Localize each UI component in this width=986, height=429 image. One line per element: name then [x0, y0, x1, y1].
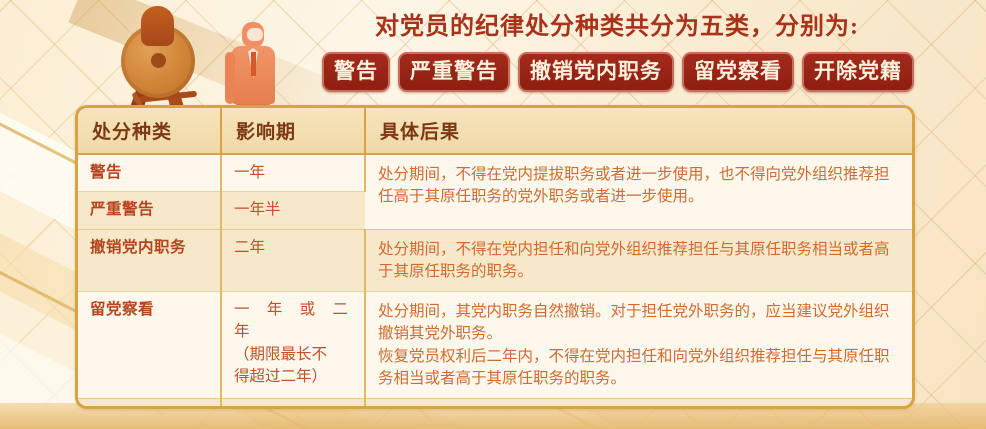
cell-kind-probation: 留党察看: [78, 291, 221, 398]
compass-hub: [151, 53, 166, 68]
figure-tie: [251, 52, 256, 76]
consequence-paragraph: 处分期间，其党内职务自然撤销。对于担任党外职务的，应当建议党外组织撤销其党外职务…: [378, 301, 900, 346]
table-row: 开除党籍 受到处分后五年 不得重新入党，也不得推荐担任与其原任职务相当或者高于其…: [78, 398, 912, 409]
table-row: 警告 一年 处分期间，不得在党内提拔职务或者进一步使用，也不得向党外组织推荐担任…: [78, 154, 912, 192]
period-line: （期限最长不: [234, 344, 352, 366]
cell-kind-warning: 警告: [78, 154, 221, 192]
column-header-kind: 处分种类: [78, 108, 221, 154]
cell-period-remove-post: 二年: [221, 229, 365, 291]
compass-knob: [141, 6, 174, 46]
punishment-badge-remove-post[interactable]: 撤销党内职务: [518, 52, 674, 92]
punishment-badge-expulsion[interactable]: 开除党籍: [802, 52, 914, 92]
page-title: 对党员的纪律处分种类共分为五类，分别为:: [375, 10, 975, 46]
table-header-row: 处分种类 影响期 具体后果: [78, 108, 912, 154]
punishment-badge-probation[interactable]: 留党察看: [682, 52, 794, 92]
cell-consequence-expulsion: 不得重新入党，也不得推荐担任与其原任职务相当或者高于其原任职务的党外职务。: [365, 398, 912, 409]
punishment-badge-warning[interactable]: 警告: [322, 52, 390, 92]
column-header-consequence: 具体后果: [365, 108, 912, 154]
table-row: 留党察看 一 年 或 二 年 （期限最长不 得超过二年） 处分期间，其党内职务自…: [78, 291, 912, 398]
cell-consequence-remove-post: 处分期间，不得在党内担任和向党外组织推荐担任与其原任职务相当或者高于其原任职务的…: [365, 229, 912, 291]
consequence-paragraph: 恢复党员权利后二年内，不得在党内担任和向党外组织推荐担任与其原任职务相当或者高于…: [378, 346, 900, 391]
punishment-badge-serious-warning[interactable]: 严重警告: [398, 52, 510, 92]
cell-period-serious-warning: 一年半: [221, 192, 365, 229]
cell-consequence-probation: 处分期间，其党内职务自然撤销。对于担任党外职务的，应当建议党外组织撤销其党外职务…: [365, 291, 912, 398]
cell-kind-expulsion: 开除党籍: [78, 398, 221, 409]
cell-period-probation: 一 年 或 二 年 （期限最长不 得超过二年）: [221, 291, 365, 398]
cell-consequence-warning: 处分期间，不得在党内提拔职务或者进一步使用，也不得向党外组织推荐担任高于其原任职…: [365, 154, 912, 229]
figure-arm: [225, 52, 235, 104]
cell-period-expulsion: 受到处分后五年: [221, 398, 365, 409]
discipline-table: 处分种类 影响期 具体后果 警告 一年 处分期间，不得在党内提拔职务或者进一步使…: [75, 105, 915, 409]
table-row: 撤销党内职务 二年 处分期间，不得在党内担任和向党外组织推荐担任与其原任职务相当…: [78, 229, 912, 291]
cell-kind-remove-post: 撤销党内职务: [78, 229, 221, 291]
cell-period-warning: 一年: [221, 154, 365, 192]
column-header-period: 影响期: [221, 108, 365, 154]
period-line: 得超过二年）: [234, 366, 352, 388]
cell-kind-serious-warning: 严重警告: [78, 192, 221, 229]
period-line: 一 年 或 二 年: [234, 299, 352, 344]
figure-face: [247, 28, 263, 41]
punishment-badge-list: 警告 严重警告 撤销党内职务 留党察看 开除党籍: [322, 52, 914, 92]
